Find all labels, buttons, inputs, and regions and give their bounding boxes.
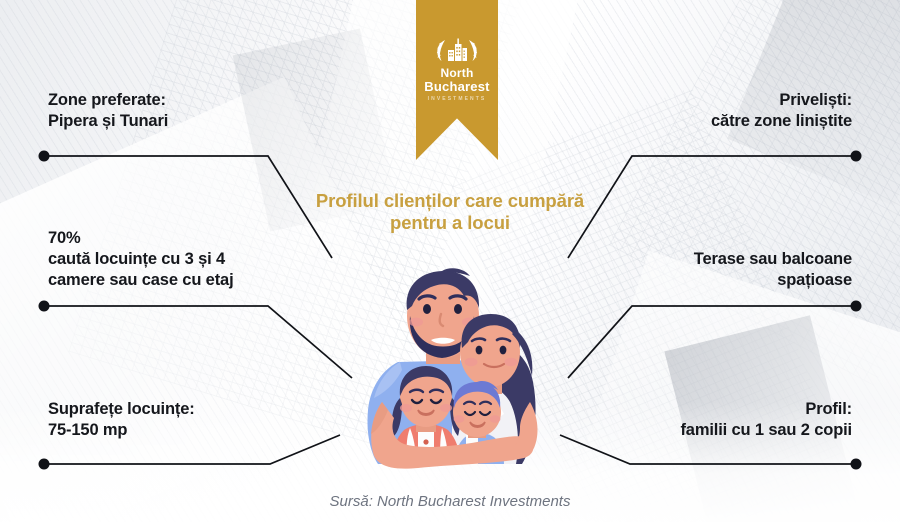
fact-terase-balcoane-line2: spațioase: [694, 270, 852, 291]
connector-dot-left-3: [39, 459, 50, 470]
fact-zone-preferate: Zone preferate: Pipera și Tunari: [48, 90, 168, 132]
connector-dot-left-2: [39, 301, 50, 312]
connector-left-2: [44, 306, 352, 378]
fact-procent-camere-line3: camere sau case cu etaj: [48, 270, 234, 291]
connector-dot-right-3: [851, 459, 862, 470]
fact-suprafete-locuinte-line1: Suprafețe locuințe:: [48, 399, 195, 420]
fact-procent-camere: 70% caută locuințe cu 3 și 4 camere sau …: [48, 228, 234, 291]
family-of-four-illustration: [338, 252, 572, 478]
fact-privelisti: Priveliști: către zone liniștite: [711, 90, 852, 132]
fact-zone-preferate-line1: Zone preferate:: [48, 90, 168, 111]
fact-procent-camere-line2: caută locuințe cu 3 și 4: [48, 249, 234, 270]
fact-zone-preferate-line2: Pipera și Tunari: [48, 111, 168, 132]
connector-right-2: [568, 306, 856, 378]
fact-privelisti-line2: către zone liniștite: [711, 111, 852, 132]
infographic-canvas: North Bucharest INVESTMENTS Profilul cli…: [0, 0, 900, 522]
connector-dot-right-1: [851, 151, 862, 162]
fact-suprafete-locuinte: Suprafețe locuințe: 75-150 mp: [48, 399, 195, 441]
connector-right-1: [568, 156, 856, 258]
fact-terase-balcoane: Terase sau balcoane spațioase: [694, 249, 852, 291]
fact-procent-camere-line1: 70%: [48, 228, 234, 249]
fact-terase-balcoane-line1: Terase sau balcoane: [694, 249, 852, 270]
fact-privelisti-line1: Priveliști:: [711, 90, 852, 111]
fact-profil-familie-line1: Profil:: [680, 399, 852, 420]
connector-dot-right-2: [851, 301, 862, 312]
source-caption: Sursă: North Bucharest Investments: [0, 493, 900, 510]
fact-suprafete-locuinte-line2: 75-150 mp: [48, 420, 195, 441]
connector-dot-left-1: [39, 151, 50, 162]
fact-profil-familie: Profil: familii cu 1 sau 2 copii: [680, 399, 852, 441]
fact-profil-familie-line2: familii cu 1 sau 2 copii: [680, 420, 852, 441]
